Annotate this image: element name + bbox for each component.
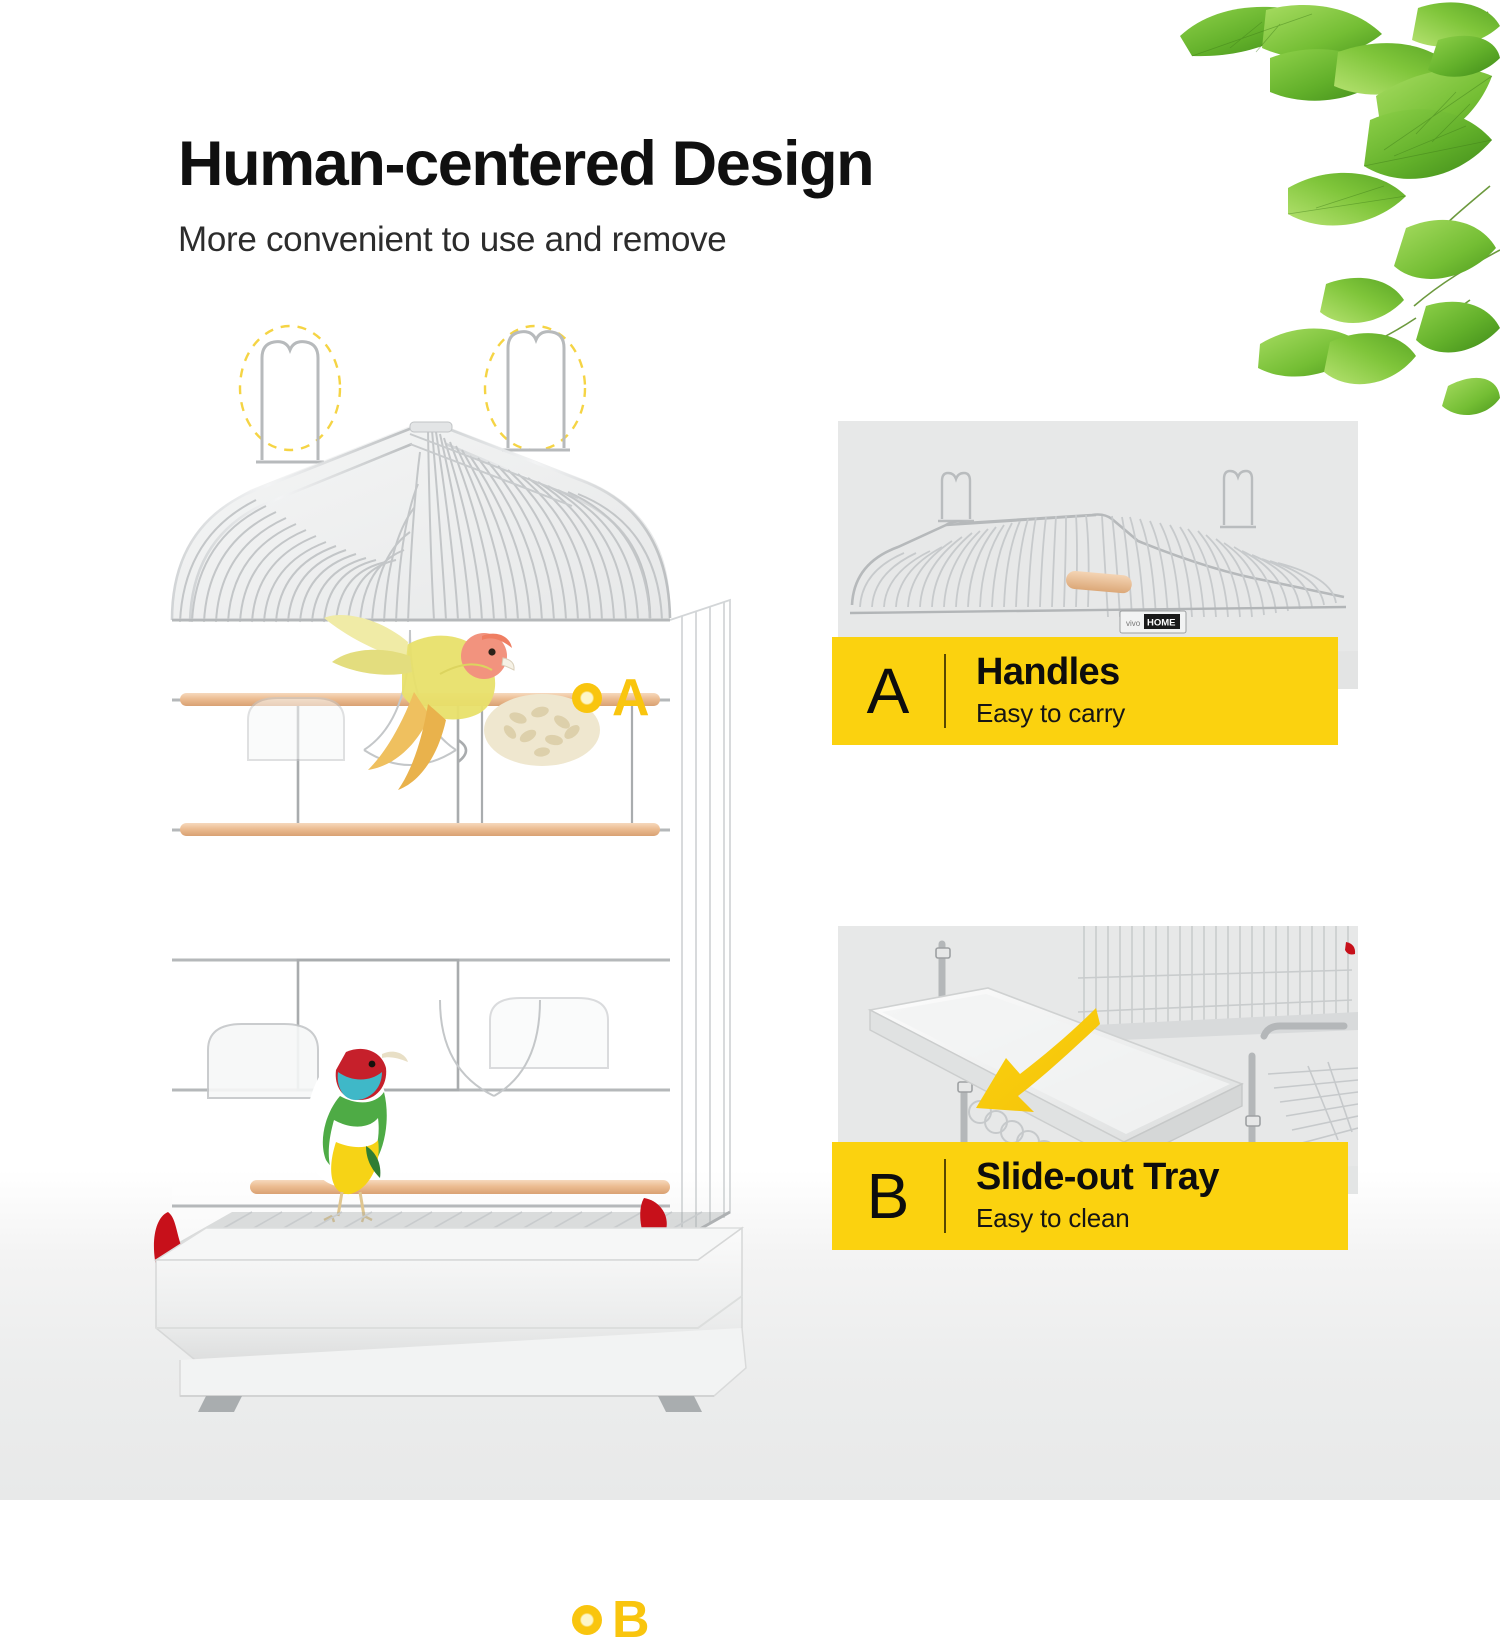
card-a-subtitle: Easy to carry [976,698,1125,729]
card-a-title: Handles [976,653,1125,693]
feature-card-a: vivo HOME A Handles Easy to carry [838,421,1358,745]
page-title: Human-centered Design [178,132,1178,198]
seed-cluster [484,694,600,766]
page-subtitle: More convenient to use and remove [178,220,1178,260]
marker-b: B [572,1594,650,1646]
header: Human-centered Design More convenient to… [178,132,1178,260]
product-photo-birdcage: A B [110,300,810,1420]
leaf-branch-decoration [1170,0,1500,420]
card-b-letter: B [832,1164,944,1228]
card-a-divider [944,654,946,728]
ring-marker-icon [572,1605,602,1635]
svg-text:vivo: vivo [1126,619,1141,628]
brand-badge-card-a: vivo HOME [1120,611,1186,633]
marker-b-letter: B [612,1594,650,1646]
base-tray [156,1228,746,1412]
feature-card-b: B Slide-out Tray Easy to clean [838,926,1358,1250]
svg-text:HOME: HOME [1147,618,1176,629]
card-b-banner: B Slide-out Tray Easy to clean [832,1142,1348,1250]
card-b-title: Slide-out Tray [976,1158,1219,1198]
card-a-letter: A [832,659,944,723]
card-b-divider [944,1159,946,1233]
carry-handle-right [502,332,570,450]
card-b-subtitle: Easy to clean [976,1203,1219,1234]
card-a-banner: A Handles Easy to carry [832,637,1338,745]
cage-roof [172,422,670,622]
carry-handle-left [256,342,324,462]
